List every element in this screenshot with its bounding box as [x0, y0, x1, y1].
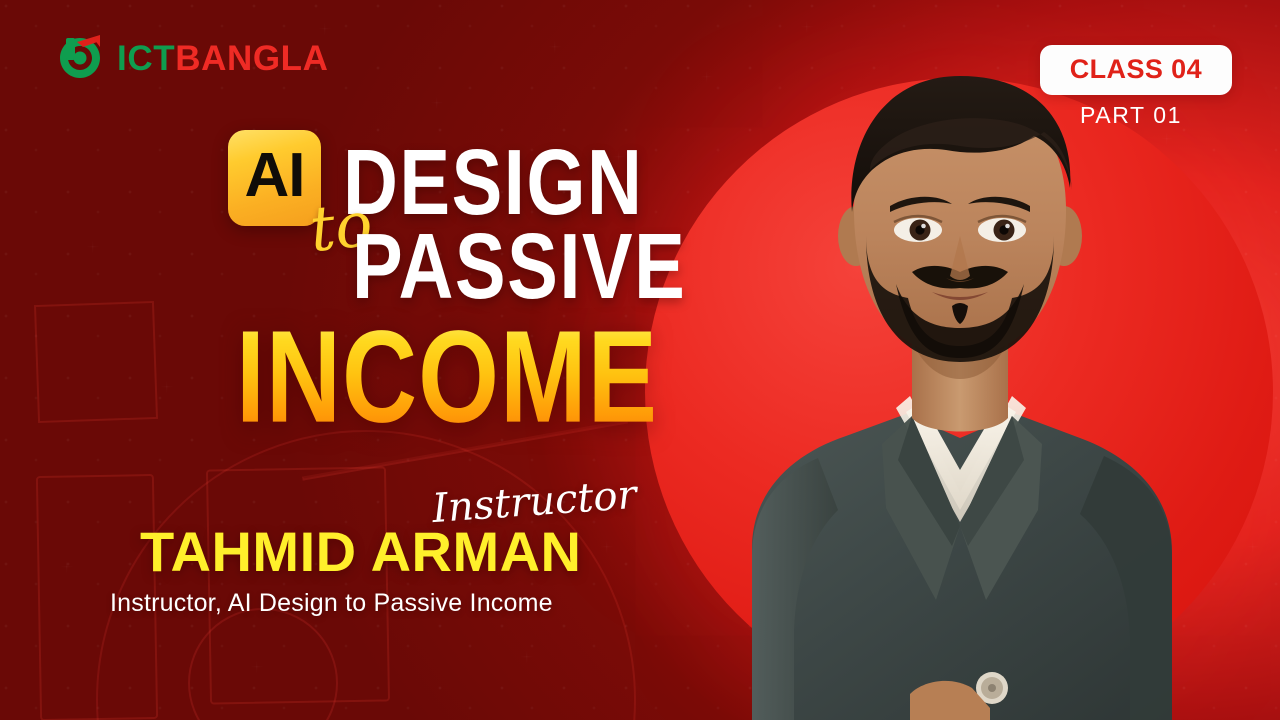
headline-word-design: DESIGN	[343, 141, 643, 226]
deco-rectangle-3	[206, 466, 390, 704]
brand-logo[interactable]: ICTBANGLA	[56, 34, 329, 82]
ict-bangla-graduation-b-logo-icon	[56, 34, 104, 82]
deco-rectangle-1	[34, 301, 158, 423]
part-label: PART 01	[1080, 104, 1182, 127]
instructor-subtitle: Instructor, AI Design to Passive Income	[110, 588, 553, 619]
thumbnail-canvas: ICTBANGLA CLASS 04 PART 01 AI DESIGN to …	[0, 0, 1280, 720]
instructor-name: TAHMID ARMAN	[140, 524, 581, 580]
ai-badge: AI	[228, 130, 321, 226]
instructor-portrait	[660, 40, 1260, 720]
headline-line-1: AI DESIGN	[228, 130, 643, 226]
brand-name-ict: ICT	[117, 39, 175, 78]
deco-circle	[188, 608, 338, 720]
headline-word-income: INCOME	[236, 312, 658, 443]
brand-wordmark: ICTBANGLA	[117, 41, 329, 76]
brand-name-bangla: BANGLA	[175, 39, 328, 78]
ai-badge-label: AI	[245, 145, 305, 207]
class-badge[interactable]: CLASS 04	[1040, 45, 1232, 95]
headline-word-passive: PASSIVE	[352, 225, 686, 310]
class-badge-label: CLASS 04	[1070, 56, 1202, 83]
